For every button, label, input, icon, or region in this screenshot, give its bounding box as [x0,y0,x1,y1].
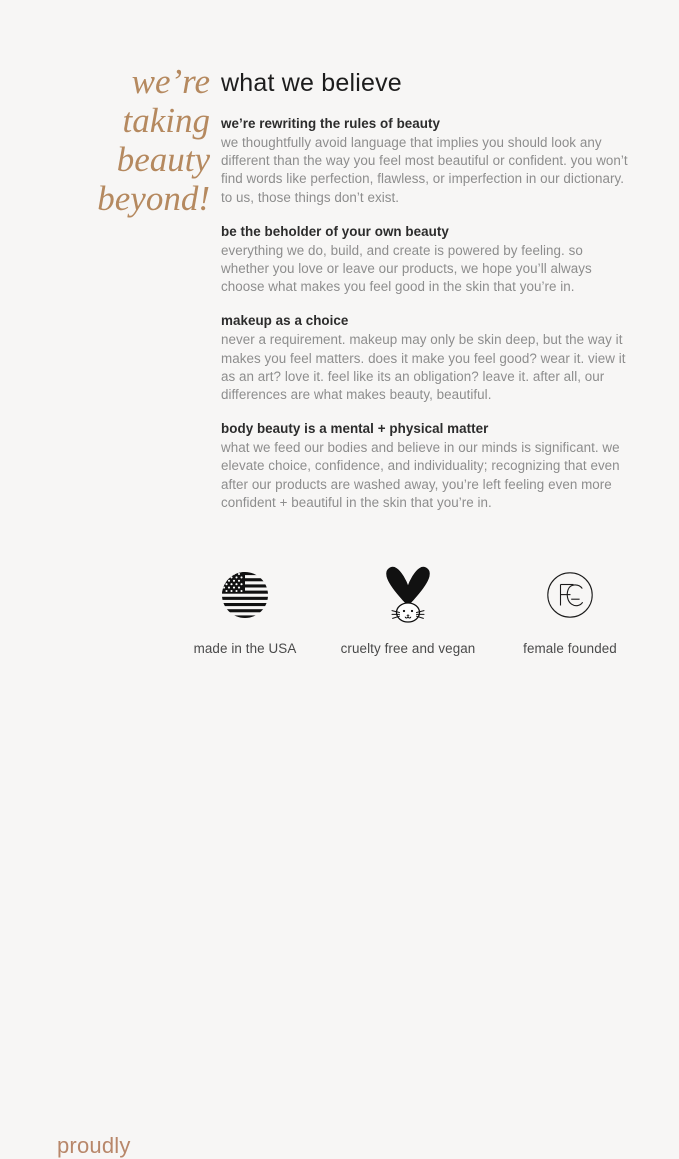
what-we-believe-section: what we believe we’re rewriting the rule… [221,68,631,512]
content-area: we’re taking beauty beyond! what we beli… [0,0,679,545]
badge-caption: made in the USA [155,640,335,657]
usa-flag-circle-icon [155,564,335,626]
belief-heading: makeup as a choice [221,312,631,330]
belief-heading: be the beholder of your own beauty [221,223,631,241]
headline-line-4: beyond! [40,179,210,218]
belief-heading: body beauty is a mental + physical matte… [221,420,631,438]
badge-made-in-usa: made in the USA [155,564,335,657]
belief-block: makeup as a choice never a requirement. … [221,312,631,404]
badge-caption: female founded [480,640,660,657]
belief-block: body beauty is a mental + physical matte… [221,420,631,512]
proudly-label: proudly [57,1133,131,1159]
badge-caption: cruelty free and vegan [318,640,498,657]
belief-body: what we feed our bodies and believe in o… [221,439,631,512]
female-founded-monogram-icon [480,564,660,626]
proof-badges-row: proudly [0,556,679,666]
belief-heading: we’re rewriting the rules of beauty [221,115,631,133]
badge-female-founded: female founded [480,564,660,657]
headline-line-2: taking [40,101,210,140]
cruelty-free-bunny-heart-icon [318,564,498,626]
brand-values-page: we’re taking beauty beyond! what we beli… [0,0,679,679]
belief-body: never a requirement. makeup may only be … [221,331,631,404]
section-title: what we believe [221,68,631,98]
belief-block: be the beholder of your own beauty every… [221,223,631,297]
belief-body: everything we do, build, and create is p… [221,242,631,297]
headline-line-3: beauty [40,140,210,179]
headline-line-1: we’re [40,62,210,101]
brand-headline: we’re taking beauty beyond! [40,62,210,218]
belief-block: we’re rewriting the rules of beauty we t… [221,115,631,207]
belief-body: we thoughtfully avoid language that impl… [221,134,631,207]
badge-cruelty-free-vegan: cruelty free and vegan [318,564,498,657]
